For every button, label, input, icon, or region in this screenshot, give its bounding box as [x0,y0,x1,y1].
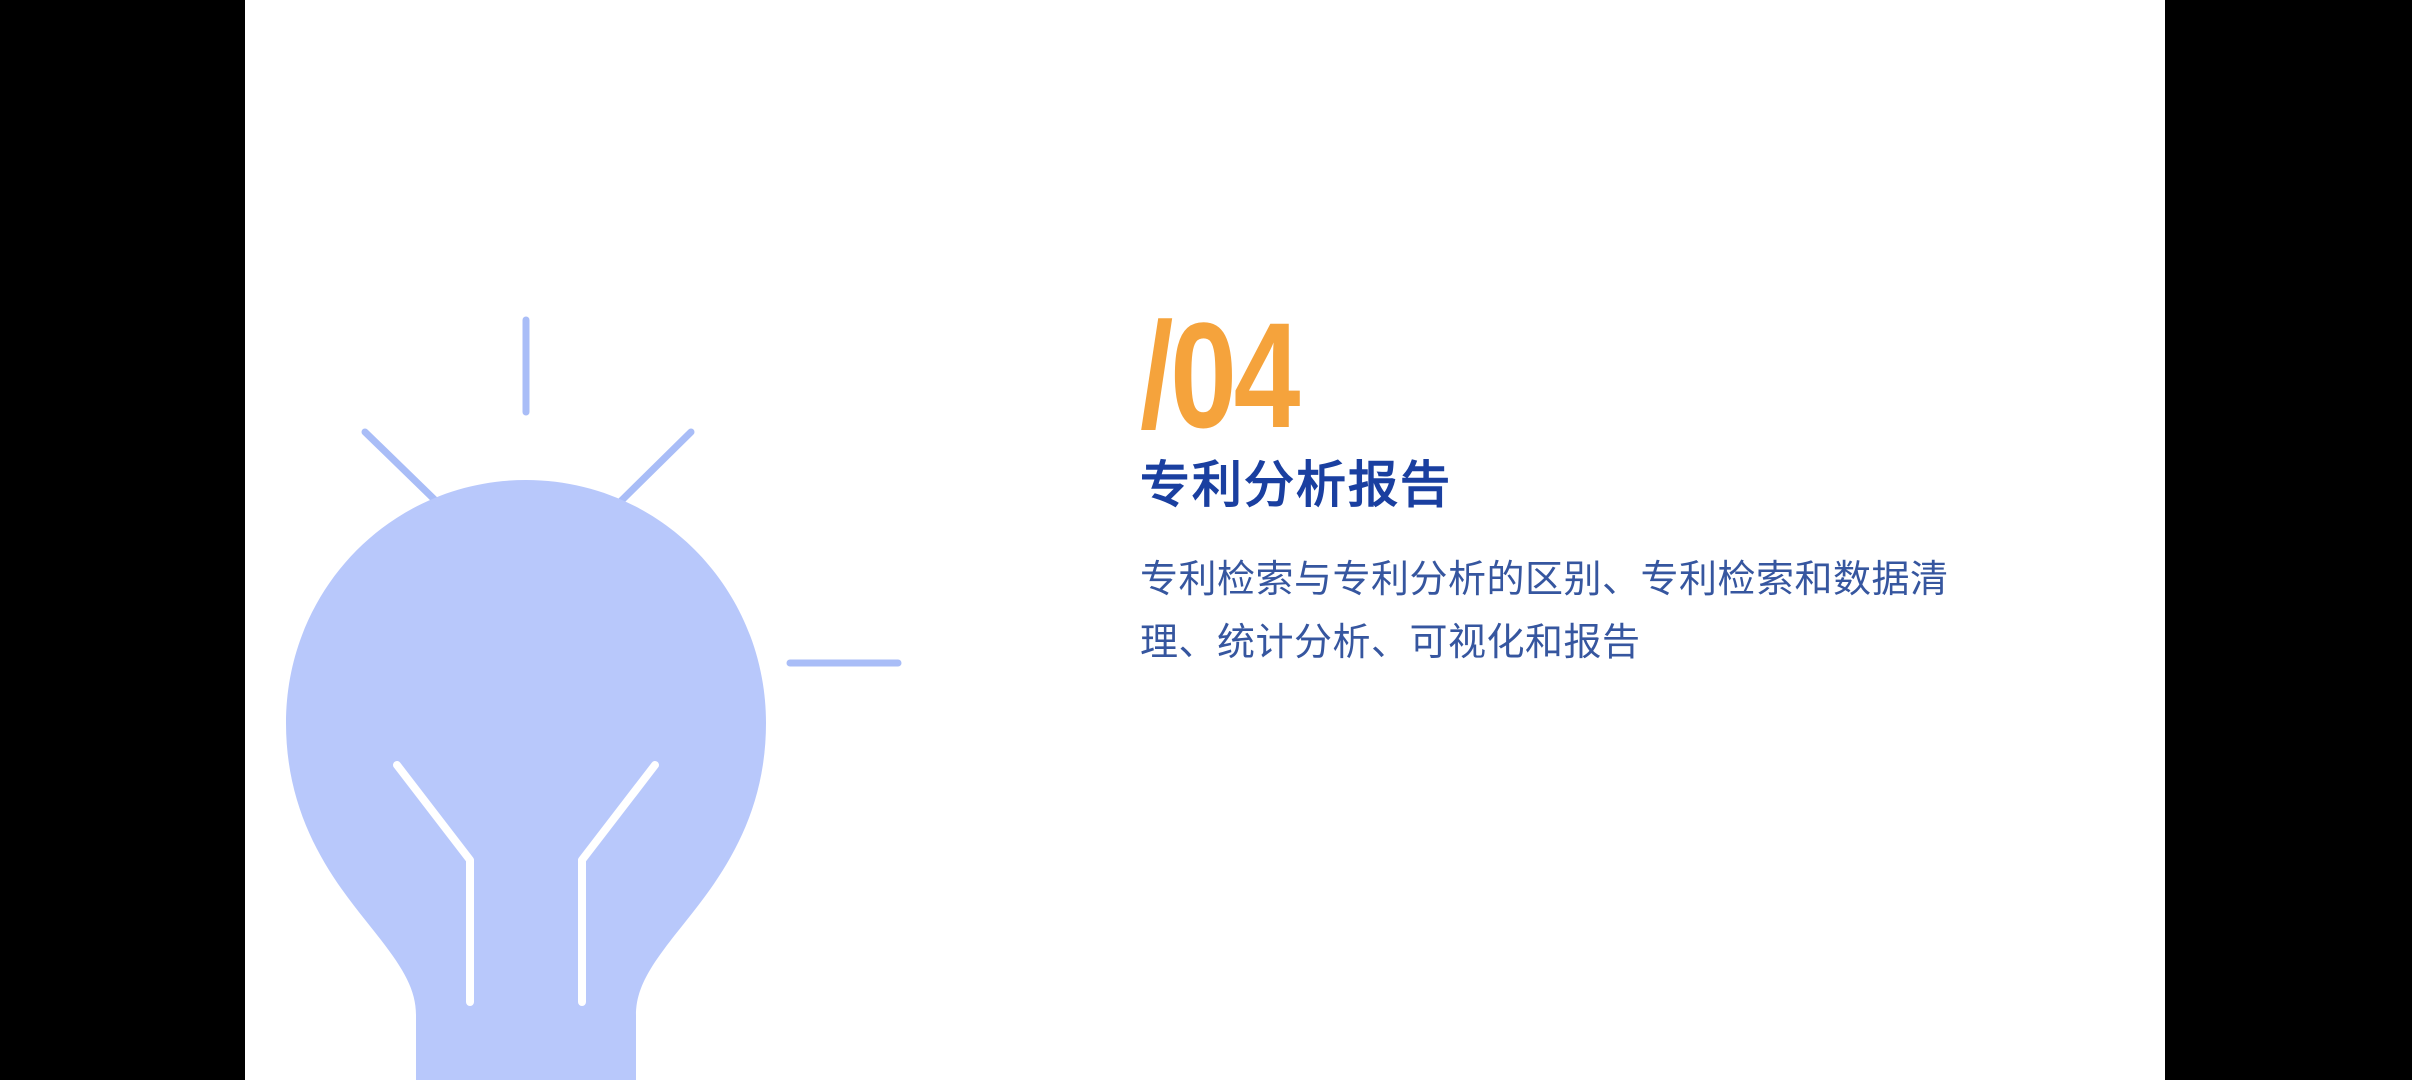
presentation-slide: /04 专利分析报告 专利检索与专利分析的区别、专利检索和数据清理、统计分析、可… [245,0,2165,1080]
section-text-block: /04 专利分析报告 专利检索与专利分析的区别、专利检索和数据清理、统计分析、可… [1140,300,2020,676]
slide-stage: /04 专利分析报告 专利检索与专利分析的区别、专利检索和数据清理、统计分析、可… [0,0,2412,1080]
section-number: /04 [1140,300,1844,450]
lightbulb-illustration [245,0,1145,1080]
section-description: 专利检索与专利分析的区别、专利检索和数据清理、统计分析、可视化和报告 [1140,549,1970,677]
bulb-glass-shape [286,480,766,1080]
letterbox-bar-left [0,0,245,1080]
letterbox-bar-right [2165,0,2412,1080]
ray-upper-right-icon [620,432,691,502]
ray-upper-left-icon [365,432,437,502]
page-title: 专利分析报告 [1140,454,2020,517]
